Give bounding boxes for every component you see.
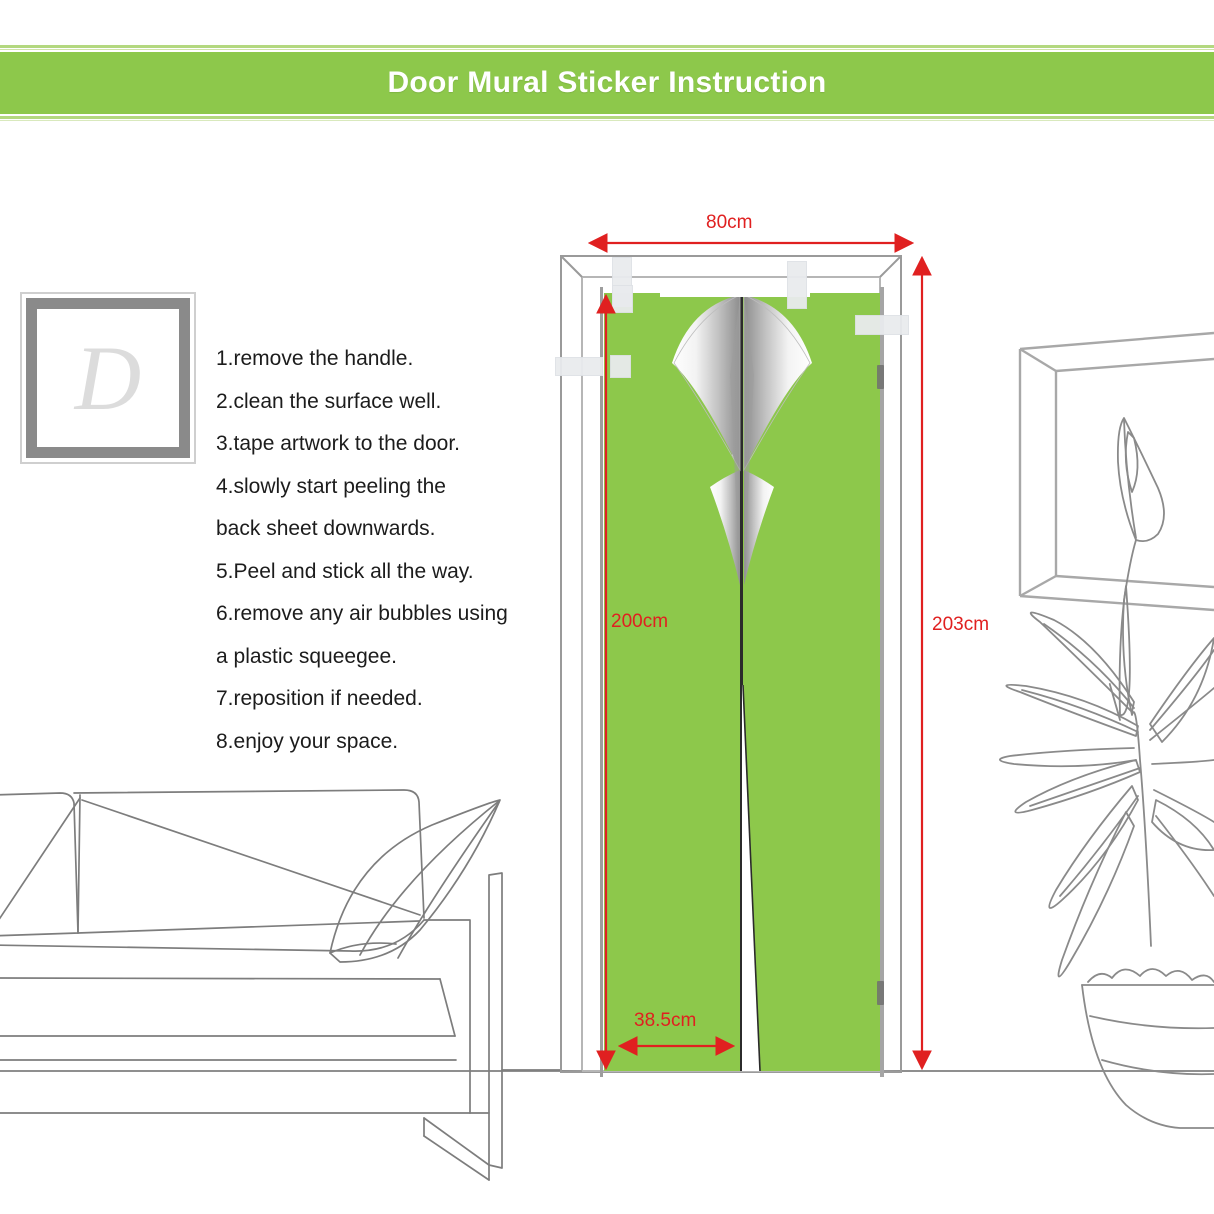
picture-frame-letter: D [20, 325, 196, 431]
tape-piece-left-mid [555, 357, 603, 376]
instruction-poster: Door Mural Sticker Instruction D 1.remov… [0, 0, 1214, 1214]
header-rule-bottom [0, 116, 1214, 119]
instruction-list: 1.remove the handle. 2.clean the surface… [216, 338, 546, 763]
tape-piece-left-panel [610, 355, 631, 378]
list-item: 6.remove any air bubbles using [216, 593, 546, 636]
tape-piece-right-upper [855, 315, 909, 335]
header-rule-top-thin [0, 49, 1214, 50]
header-rule-top [0, 45, 1214, 48]
list-item: 3.tape artwork to the door. [216, 423, 546, 466]
header-banner: Door Mural Sticker Instruction [0, 52, 1214, 114]
door-diagram [560, 255, 920, 1075]
page-title: Door Mural Sticker Instruction [387, 66, 826, 100]
wall-picture-frame: D [20, 292, 196, 464]
door-hinge-top [877, 365, 884, 389]
list-item: back sheet downwards. [216, 508, 546, 551]
dimension-label-width-total: 80cm [706, 212, 752, 234]
list-item: a plastic squeegee. [216, 636, 546, 679]
tape-piece-top-right [787, 261, 807, 309]
list-item: 5.Peel and stick all the way. [216, 551, 546, 594]
tape-piece-top-left-inner [612, 285, 633, 313]
list-item: 2.clean the surface well. [216, 381, 546, 424]
list-item: 7.reposition if needed. [216, 678, 546, 721]
header-rule-bottom-thin [0, 120, 1214, 121]
door-hinge-bottom [877, 981, 884, 1005]
dimension-label-width-panel: 38.5cm [634, 1010, 696, 1032]
dimension-label-height-door: 203cm [932, 614, 989, 636]
list-item: 1.remove the handle. [216, 338, 546, 381]
list-item: 8.enjoy your space. [216, 721, 546, 764]
list-item: 4.slowly start peeling the [216, 466, 546, 509]
dimension-label-height-sticker: 200cm [611, 611, 668, 633]
